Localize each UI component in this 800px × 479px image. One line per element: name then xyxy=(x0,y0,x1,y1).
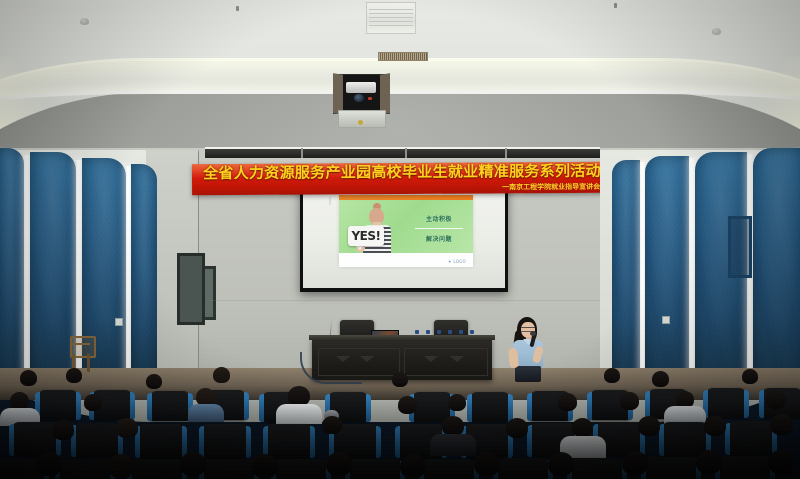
audience-head xyxy=(392,372,408,387)
sprinkler-icon xyxy=(712,28,721,35)
audience-area xyxy=(0,366,800,479)
seat xyxy=(644,457,698,479)
wall-panel-blue xyxy=(0,148,24,384)
slide-text-block: 主动积极 解决问题 xyxy=(413,214,465,243)
audience-head xyxy=(66,368,82,383)
audience-head xyxy=(638,416,660,436)
audience-head xyxy=(770,414,793,435)
table-chevron-icon xyxy=(424,356,438,362)
seat xyxy=(348,459,402,479)
seat xyxy=(496,458,550,479)
seat xyxy=(150,391,190,421)
projector-lens-icon xyxy=(354,94,364,102)
chair-rail xyxy=(72,343,90,345)
audience-head xyxy=(622,451,648,475)
audience-head xyxy=(36,452,62,476)
audience-head xyxy=(766,390,786,409)
wall-socket-icon xyxy=(115,318,123,326)
seat xyxy=(202,424,248,458)
slide-logo: ✦ LOGO xyxy=(448,259,466,264)
audience-head xyxy=(400,454,426,478)
audience-head xyxy=(213,367,230,383)
microphone-head-icon xyxy=(530,331,536,336)
audience-head xyxy=(180,452,206,476)
banner-subtitle: 一南京工程学院就业指导宣讲会 xyxy=(502,183,600,193)
yes-sign-text: YES! xyxy=(351,229,380,243)
audience-head xyxy=(548,452,574,476)
projector-housing xyxy=(333,74,390,114)
audience-head xyxy=(768,450,794,474)
seat xyxy=(266,424,312,458)
projector-screw-icon xyxy=(358,120,363,125)
seat xyxy=(12,422,58,456)
auditorium-photo: YES! 主动积极 解决问题 ✦ LOGO 全省人 xyxy=(0,0,800,479)
audience-shoulders xyxy=(430,434,476,456)
audience-head xyxy=(116,418,138,438)
audience-head xyxy=(652,371,669,387)
sprinkler-icon xyxy=(80,18,89,25)
wall-panel-blue xyxy=(131,164,157,384)
table-top-edge xyxy=(309,335,495,340)
slide-footer: ✦ LOGO xyxy=(339,253,473,267)
slide-line-2: 解决问题 xyxy=(413,234,465,243)
table-chevron-icon xyxy=(450,356,464,362)
projector-mount xyxy=(338,110,386,128)
audience-head xyxy=(326,452,352,476)
ceiling-vent xyxy=(366,2,416,34)
audience-head xyxy=(288,386,310,406)
wall-panel-blue xyxy=(612,160,640,384)
seat xyxy=(422,459,476,479)
wall-panel-blue xyxy=(753,148,800,384)
audience-head xyxy=(442,416,464,436)
screen-surface: YES! 主动积极 解决问题 ✦ LOGO xyxy=(303,183,505,288)
slide-edge-mark xyxy=(329,197,331,205)
slide-divider xyxy=(415,228,463,229)
bottle-cap xyxy=(415,330,419,334)
audience-head xyxy=(558,393,577,411)
presentation-slide: YES! 主动积极 解决问题 ✦ LOGO xyxy=(339,195,473,267)
event-banner: 全省人力资源服务产业园高校毕业生就业精准服务系列活动 一南京工程学院就业指导宣讲… xyxy=(192,162,612,196)
ceiling-hook-icon xyxy=(614,3,617,8)
audience-head xyxy=(448,394,466,411)
ceiling-hook-icon xyxy=(236,6,239,11)
wall-panel-blue xyxy=(645,156,689,384)
seat xyxy=(470,392,510,422)
wall-frame-right xyxy=(728,216,752,278)
wall-frame-left xyxy=(177,253,205,325)
audience-head xyxy=(398,396,417,414)
audience-head xyxy=(322,416,342,434)
banner-title: 全省人力资源服务产业园高校毕业生就业精准服务系列活动 xyxy=(200,163,604,182)
audience-head xyxy=(742,369,758,384)
bottle-cap xyxy=(448,330,452,334)
bottle-cap xyxy=(426,330,430,334)
audience-head xyxy=(146,374,162,389)
audience-head xyxy=(252,454,278,478)
audience-head xyxy=(572,418,593,437)
seat xyxy=(74,423,120,457)
audience-head xyxy=(108,454,134,478)
audience-head xyxy=(704,416,726,436)
seat xyxy=(138,424,184,458)
audience-shoulders xyxy=(276,404,322,424)
projector-body xyxy=(346,82,376,93)
audience-head xyxy=(474,452,500,476)
seat xyxy=(130,459,184,479)
slide-logo-mark-icon: ✦ xyxy=(448,259,452,264)
wall-socket-icon xyxy=(662,316,670,324)
audience-head xyxy=(696,450,722,474)
seat xyxy=(706,388,746,418)
housing-flap-left xyxy=(333,73,343,115)
seat xyxy=(58,459,112,479)
audience-head xyxy=(52,420,74,440)
wall-seam xyxy=(205,300,600,301)
audience-head xyxy=(84,394,102,411)
slide-logo-text: LOGO xyxy=(453,259,466,264)
housing-flap-right xyxy=(380,73,390,115)
audience-shoulders xyxy=(188,404,224,422)
audience-head xyxy=(620,392,639,410)
seat xyxy=(38,390,78,420)
audience-head xyxy=(20,370,37,386)
audience-head xyxy=(604,368,620,383)
bottle-cap xyxy=(437,330,441,334)
slide-content-area: YES! 主动积极 解决问题 xyxy=(339,200,473,253)
table-chevron-icon xyxy=(360,356,374,362)
projection-screen: YES! 主动积极 解决问题 ✦ LOGO xyxy=(300,180,508,292)
audience-head xyxy=(506,418,528,438)
seat xyxy=(202,459,256,479)
seat xyxy=(274,459,328,479)
ceiling-grille xyxy=(378,52,428,61)
yes-sign-icon: YES! xyxy=(348,226,384,246)
slide-line-1: 主动积极 xyxy=(413,214,465,223)
bottle-cap xyxy=(470,330,474,334)
wall-light-bar xyxy=(205,147,600,158)
seat xyxy=(728,421,774,455)
dome-edge-trim xyxy=(0,90,800,154)
projector-led-icon xyxy=(368,97,372,100)
seat xyxy=(718,456,772,479)
bottle-cap xyxy=(459,330,463,334)
seat xyxy=(570,458,624,479)
